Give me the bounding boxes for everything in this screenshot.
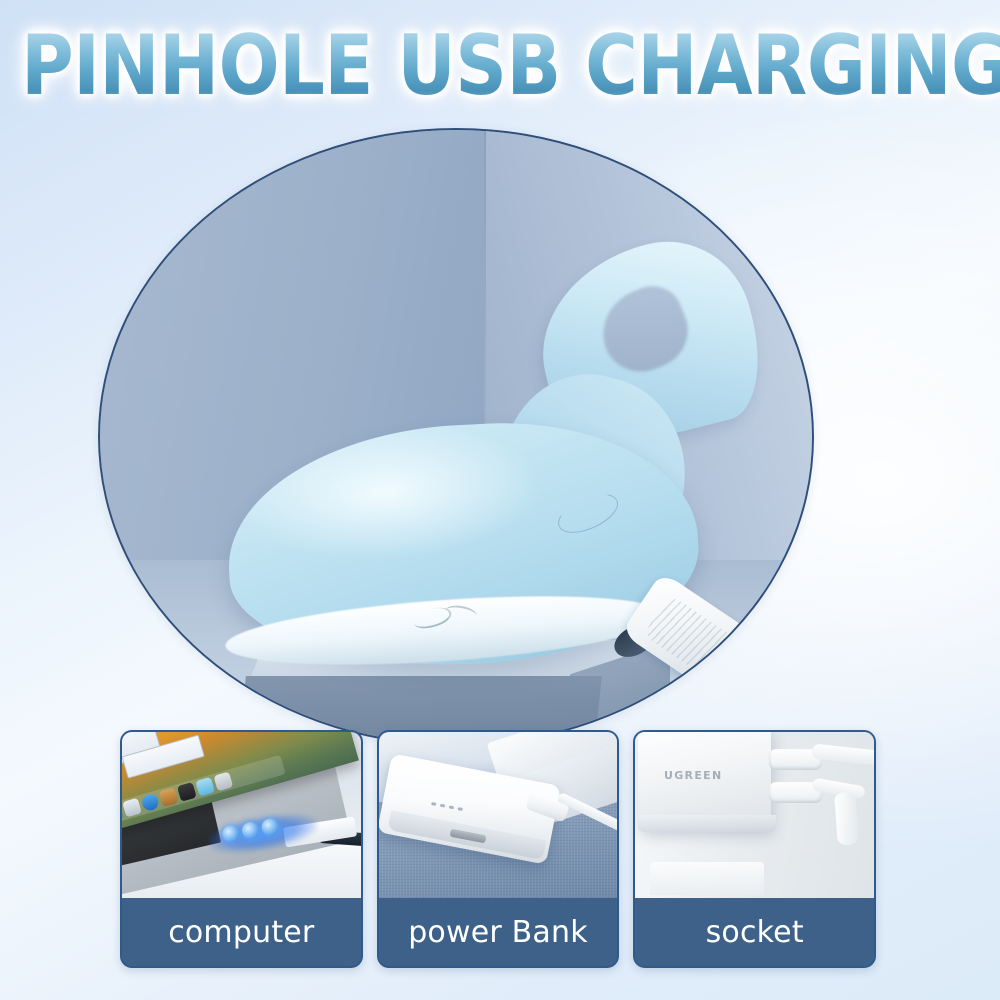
wall-charger-bottom-edge — [638, 815, 776, 832]
page-title: PINHOLE USB CHARGING PINHOLE USB CHARGIN… — [0, 26, 1000, 116]
charging-bolt-icon — [221, 824, 241, 844]
hero-product-oval — [98, 128, 814, 746]
charging-circle-icon — [241, 820, 261, 840]
page-title-text: PINHOLE USB CHARGING — [21, 18, 1000, 114]
power-bank-photo — [379, 732, 618, 898]
charging-data-icon — [261, 817, 281, 837]
wall-outlet — [650, 862, 765, 895]
socket-photo: UGREEN — [635, 732, 874, 898]
page-title-glow-layer: PINHOLE USB CHARGING — [21, 18, 1000, 114]
scenario-label-socket: socket — [635, 898, 874, 966]
dock-settings-icon — [122, 797, 142, 817]
dock-trash-icon — [213, 771, 233, 791]
charger-cable-tail — [834, 791, 859, 845]
scenario-card-computer[interactable]: computer — [120, 730, 363, 968]
usage-scenario-card-list: computer power Bank — [120, 730, 876, 968]
scenario-label-power-bank: power Bank — [379, 898, 618, 966]
scenario-card-socket[interactable]: UGREEN socket — [633, 730, 876, 968]
ugreen-brand-logo: UGREEN — [664, 769, 722, 782]
dock-finder-icon — [195, 776, 215, 796]
dock-folder-icon — [159, 787, 179, 807]
scenario-card-power-bank[interactable]: power Bank — [377, 730, 620, 968]
dock-safari-icon — [140, 792, 160, 812]
scenario-label-computer: computer — [122, 898, 361, 966]
computer-photo — [122, 732, 361, 898]
dock-terminal-icon — [177, 782, 197, 802]
